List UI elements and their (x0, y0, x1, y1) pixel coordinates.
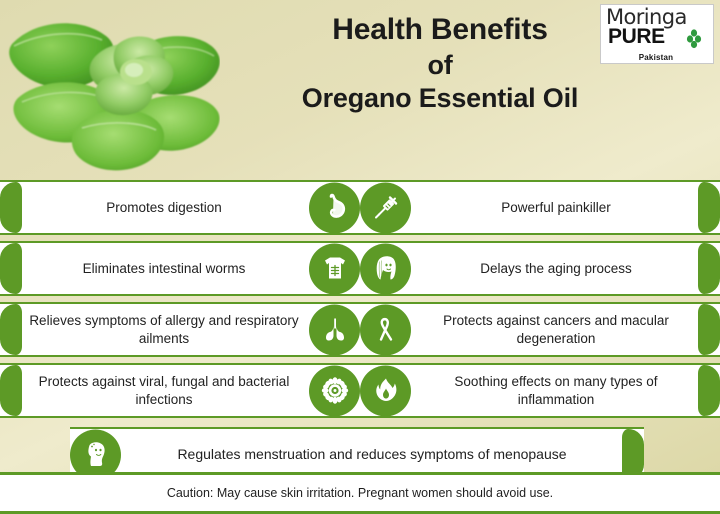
benefit-item-eliminates-intestinal-worms[interactable]: Eliminates intestinal worms (0, 241, 360, 296)
oregano-sprig-image (2, 2, 220, 178)
pill-cap-right (698, 182, 720, 233)
pill-cap-right (698, 365, 720, 416)
benefit-label: Delays the aging process (416, 243, 696, 294)
benefit-label: Protects against viral, fungal and bacte… (24, 365, 304, 416)
benefit-row: Eliminates intestinal worms De (0, 239, 720, 298)
pill-cap-left (0, 243, 22, 294)
pill-cap-left (0, 304, 22, 355)
stomach-icon (309, 182, 360, 233)
benefit-row: Promotes digestion Powerful painkiller (0, 178, 720, 237)
pill-cap-right (698, 243, 720, 294)
page-title: Health Benefits of Oregano Essential Oil (225, 12, 655, 114)
benefit-item-delays-aging[interactable]: Delays the aging process (360, 241, 720, 296)
header: Health Benefits of Oregano Essential Oil… (0, 0, 720, 178)
woman-face-icon (360, 243, 411, 294)
caution-bar: Caution: May cause skin irritation. Preg… (0, 472, 720, 514)
caution-text: Caution: May cause skin irritation. Preg… (167, 486, 553, 500)
pill-cap-left (0, 365, 22, 416)
logo-country-label: Pakistan (601, 53, 711, 62)
benefit-label: Relieves symptoms of allergy and respira… (24, 304, 304, 355)
benefit-label: Soothing effects on many types of inflam… (416, 365, 696, 416)
title-line-1: Health Benefits (225, 12, 655, 49)
benefit-row: Relieves symptoms of allergy and respira… (0, 300, 720, 359)
benefit-label: Eliminates intestinal worms (24, 243, 304, 294)
awareness-ribbon-icon (360, 304, 411, 355)
benefit-row: Protects against viral, fungal and bacte… (0, 361, 720, 420)
benefit-item-cancers-macular[interactable]: Protects against cancers and macular deg… (360, 302, 720, 357)
benefit-label: Promotes digestion (24, 182, 304, 233)
benefit-item-promotes-digestion[interactable]: Promotes digestion (0, 180, 360, 235)
title-line-2: of (225, 49, 655, 82)
title-line-3: Oregano Essential Oil (225, 82, 655, 115)
benefit-item-allergy-respiratory[interactable]: Relieves symptoms of allergy and respira… (0, 302, 360, 357)
brand-logo[interactable]: Moringa PURE Pakistan (600, 4, 714, 64)
benefits-list: Promotes digestion Powerful painkiller (0, 178, 720, 484)
syringe-icon (360, 182, 411, 233)
virus-germ-icon (309, 365, 360, 416)
benefit-label: Protects against cancers and macular deg… (416, 304, 696, 355)
green-leaf-cluster-icon (685, 29, 705, 49)
benefit-item-viral-fungal-bacterial[interactable]: Protects against viral, fungal and bacte… (0, 363, 360, 418)
lungs-icon (309, 304, 360, 355)
pill-cap-right (698, 304, 720, 355)
pill-cap-left (0, 182, 22, 233)
benefit-item-inflammation[interactable]: Soothing effects on many types of inflam… (360, 363, 720, 418)
infographic-poster: Health Benefits of Oregano Essential Oil… (0, 0, 720, 514)
flame-icon (360, 365, 411, 416)
torso-intestine-icon (309, 243, 360, 294)
benefit-item-powerful-painkiller[interactable]: Powerful painkiller (360, 180, 720, 235)
benefit-label: Powerful painkiller (416, 182, 696, 233)
logo-word-pure: PURE (608, 25, 665, 49)
